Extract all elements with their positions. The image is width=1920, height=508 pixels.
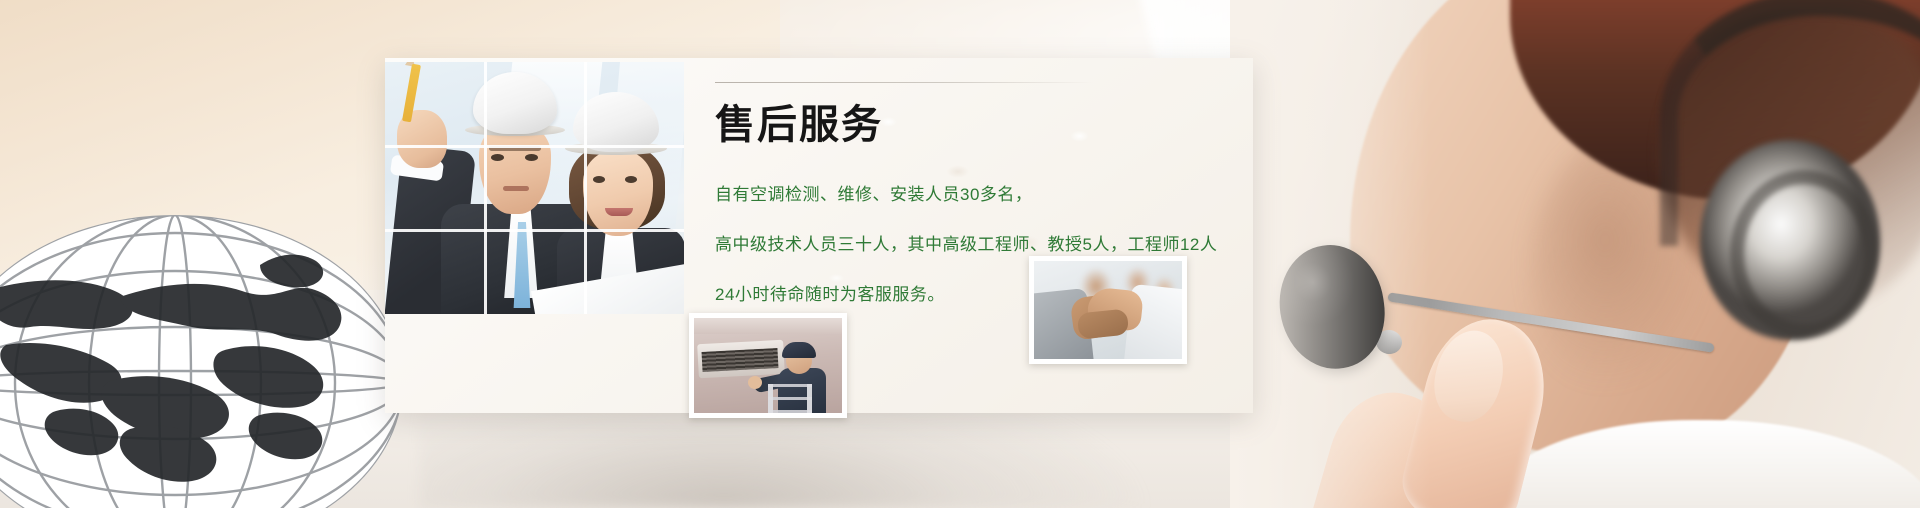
content-card: 售后服务 自有空调检测、维修、安装人员30多名， 高中级技术人员三十人，其中高级…	[385, 58, 1253, 413]
headset-headband	[1660, 0, 1920, 246]
air-conditioner-grille	[702, 348, 779, 372]
after-sales-service-banner: 售后服务 自有空调检测、维修、安装人员30多名， 高中级技术人员三十人，其中高级…	[0, 0, 1920, 508]
engineer-male-eye-left	[491, 154, 504, 161]
headset-photo-left-fade	[1230, 0, 1430, 508]
engineers-photo	[385, 62, 684, 314]
handshake-photo	[1029, 256, 1187, 364]
ac-technician-cap	[782, 342, 816, 358]
ac-photo-ceiling	[694, 318, 842, 334]
page-title: 售后服务	[715, 103, 1205, 147]
body-line-2: 高中级技术人员三十人，其中高级工程师、教授5人，工程师12人	[715, 231, 1205, 258]
engineer-male-mouth	[503, 186, 529, 191]
wireframe-globe-graphic	[0, 205, 430, 508]
engineer-male-brow	[489, 146, 541, 151]
ac-technician-hand	[748, 376, 762, 389]
title-divider	[715, 82, 1093, 83]
engineer-female-eye-left	[593, 176, 605, 183]
engineer-male-eye-right	[525, 154, 538, 161]
engineer-female-mouth	[605, 208, 633, 216]
customer-service-headset-photo	[1230, 0, 1920, 508]
ac-service-photo	[689, 313, 847, 418]
step-ladder	[768, 384, 812, 414]
engineer-female-eye-right	[625, 176, 637, 183]
body-line-1: 自有空调检测、维修、安装人员30多名，	[715, 181, 1205, 208]
